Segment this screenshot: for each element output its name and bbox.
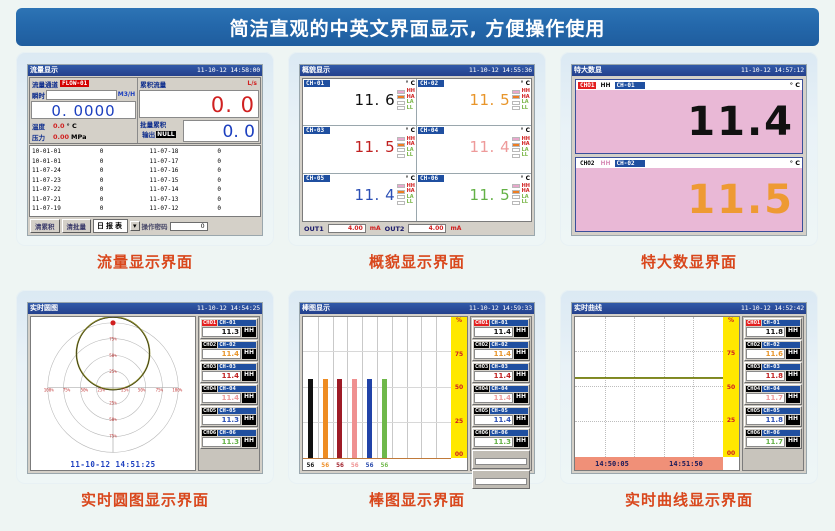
svg-text:100%: 100%	[44, 388, 54, 393]
overview-cell-body: 11. 6HHHALALL	[304, 87, 415, 113]
titlebar-title: 实时圆图	[30, 303, 58, 314]
channel-number: CHO6	[474, 430, 489, 436]
channel-item-ch-05[interactable]: CHO5CH-0511.4HH	[472, 406, 530, 427]
titlebar-timestamp: 11-10-12 14:57:12	[741, 65, 804, 76]
channel-item-ch-06[interactable]: CHO6CH-0611.3HH	[472, 428, 530, 449]
channel-value: 11.4	[202, 349, 241, 359]
caption-bar-chart: 棒图显示界面	[288, 489, 546, 510]
axis-tick-label: 25	[455, 418, 463, 425]
cell-date-left: 11-07-24	[32, 166, 100, 176]
bar-plot[interactable]: %75502500 565656565656	[302, 316, 468, 471]
table-row: 11-07-19 0 11-07-12 0	[32, 204, 258, 214]
channel-item-ch-03[interactable]: CHO3CH-0311.8HH	[744, 362, 802, 383]
bar-value-label: 56	[333, 461, 348, 469]
screen-bar-chart: 棒图显示 11-10-12 14:59:33 %75502500 5656565…	[299, 302, 535, 474]
trend-plot-area	[575, 317, 723, 457]
cell-date-right: 11-07-13	[150, 195, 218, 205]
channel-value: 11. 5	[469, 186, 510, 204]
channel-value: 11.4	[202, 371, 241, 381]
channel-item-ch-02[interactable]: CHO2CH-0211.4HH	[200, 340, 258, 361]
alarm-label-hh: HH	[514, 415, 528, 425]
channel-number: CHO2	[202, 342, 217, 348]
channel-item-ch-02[interactable]: CHO2CH-0211.6HH	[744, 340, 802, 361]
cell-date-right: 11-07-16	[150, 166, 218, 176]
alarm-box-icon	[512, 201, 520, 205]
channel-value: 11. 4	[469, 138, 510, 156]
overview-cell-body: 11. 5HHHALALL	[418, 87, 530, 113]
cell-value-left: 0	[100, 166, 150, 176]
alarm-label-hh: HH	[600, 160, 610, 167]
svg-text:75%: 75%	[63, 388, 71, 393]
flow-press-label: 压力	[30, 132, 45, 142]
table-row: 11-07-21 0 11-07-13 0	[32, 195, 258, 205]
overview-cell-header: CH-01° C	[304, 80, 415, 87]
channel-item-ch-04[interactable]: CHO4CH-0411.7HH	[744, 384, 802, 405]
titlebar-circle: 实时圆图 11-10-12 14:54:25	[28, 303, 262, 314]
svg-text:25%: 25%	[121, 388, 129, 393]
unit-label: ° C	[406, 127, 416, 134]
flow-history-table[interactable]: 10-01-01 0 11-07-18 0 10-01-01 0 11-07-1…	[29, 145, 261, 217]
channel-value: 11.3	[202, 327, 241, 337]
overview-cell-ch-06[interactable]: CH-06° C11. 5HHHALALL	[417, 174, 531, 221]
bar-value-label: 56	[377, 461, 392, 469]
channel-number: CHO2	[474, 342, 489, 348]
alarm-label: LL	[407, 153, 413, 158]
trend-channel-list: CHO1CH-0111.8HHCHO2CH-0211.6HHCHO3CH-031…	[742, 316, 804, 471]
bar-slot	[392, 317, 407, 458]
table-row: 11-07-23 0 11-07-15 0	[32, 176, 258, 186]
channel-value: 11.7	[746, 393, 785, 403]
cell-value-right: 0	[217, 204, 258, 214]
out1-value: 4.00	[328, 224, 366, 233]
channel-value: 11.4	[202, 393, 241, 403]
flow-channel-label: 流量通道	[30, 79, 58, 89]
unit-label: ° C	[521, 80, 531, 87]
alarm-box-icon	[512, 148, 520, 152]
caption-flow-display: 流量显示界面	[16, 251, 274, 272]
alarm-indicator-ll: LL	[512, 153, 530, 158]
channel-value: 11.7	[746, 437, 785, 447]
channel-chip: CHO2	[578, 160, 596, 167]
channel-item-body: 11.4HH	[202, 393, 256, 403]
bar-plot-area	[303, 317, 451, 458]
channel-item-body: 11.8HH	[746, 371, 800, 381]
table-row: 10-01-01 0 11-07-17 0	[32, 157, 258, 167]
channel-tag: CH-06	[218, 430, 256, 436]
trend-time-axis: 14:50:05 14:51:50	[575, 457, 723, 470]
bar-ch-02	[323, 379, 328, 458]
channel-item-ch-01[interactable]: CHO1CH-0111.8HH	[744, 318, 802, 339]
channel-item-ch-01[interactable]: CHO1CH-0111.4HH	[472, 318, 530, 339]
channel-value: 11.3	[474, 437, 513, 447]
cell-value-right: 0	[217, 157, 258, 167]
bar-value-labels: 565656565656	[303, 458, 451, 470]
bigdigit-body: CHO1HHCH-01° C11.4CHO2HHCH-02° C11.5	[572, 76, 806, 235]
titlebar-timestamp: 11-10-12 14:52:42	[741, 303, 804, 314]
unit-label: ° C	[406, 80, 416, 87]
password-input[interactable]: 0	[170, 222, 208, 231]
overview-cell-header: CH-05° C	[304, 175, 415, 182]
titlebar-bar: 棒图显示 11-10-12 14:59:33	[300, 303, 534, 314]
circle-plot[interactable]: 25% 50% 75% 25% 50% 75% 100% 25% 50% 75%…	[30, 316, 196, 471]
svg-text:25%: 25%	[109, 369, 117, 374]
channel-number: CHO3	[202, 364, 217, 370]
channel-item-body: 11.3HH	[202, 415, 256, 425]
axis-tick-label: 00	[455, 451, 463, 458]
alarm-label-hh: HH	[786, 393, 800, 403]
flow-temp-unit: ° C	[65, 122, 77, 130]
channel-tag: CH-03	[490, 364, 528, 370]
alarm-box-icon	[512, 143, 520, 147]
titlebar-trend: 实时曲线 11-10-12 14:52:42	[572, 303, 806, 314]
channel-number: CHO4	[202, 386, 217, 392]
channel-value: 11. 5	[469, 91, 510, 109]
channel-item-body: 11.4HH	[474, 327, 528, 337]
clear-batch-button[interactable]: 清批量	[62, 219, 92, 233]
overview-cell-body: 11. 4HHHALALL	[418, 134, 530, 160]
svg-text:100%: 100%	[172, 388, 182, 393]
titlebar-timestamp: 11-10-12 14:55:36	[469, 65, 532, 76]
channel-tag: CH-02	[615, 160, 645, 167]
flow-batch-value: 0. 0	[183, 120, 259, 142]
channel-item-header: CHO2CH-02	[474, 342, 528, 348]
flow-temp-row: 温度 0.0 ° C	[30, 120, 137, 131]
alarm-label-hh: HH	[600, 82, 610, 89]
unit-label: ° C	[521, 127, 531, 134]
circle-channel-list: CHO1CH-0111.3HHCHO2CH-0211.4HHCHO3CH-031…	[198, 316, 260, 471]
channel-tag: CH-03	[762, 364, 800, 370]
channel-tag: CH-02	[218, 342, 256, 348]
bigdigit-value-area: 11.5	[576, 168, 802, 231]
channel-item-ch-01[interactable]: CHO1CH-0111.3HH	[200, 318, 258, 339]
alarm-box-icon	[397, 148, 405, 152]
alarm-box-icon	[512, 184, 520, 188]
alarm-label: LL	[522, 153, 528, 158]
overview-cell-header: CH-02° C	[418, 80, 530, 87]
alarm-label-hh: HH	[242, 415, 256, 425]
overview-cell-ch-01[interactable]: CH-01° C11. 6HHHALALL	[303, 79, 417, 126]
alarm-box-icon	[512, 95, 520, 99]
overview-body: CH-01° C11. 6HHHALALLCH-02° C11. 5HHHALA…	[300, 76, 534, 235]
axis-tick-label: 50	[455, 384, 463, 391]
channel-number: CHO3	[474, 364, 489, 370]
flow-body: 流量通道 FLOW-01 瞬时 M3/H 0. 0000 温度 0.0 ° C …	[28, 76, 262, 235]
alarm-label-hh: HH	[786, 371, 800, 381]
channel-item-ch-04[interactable]: CHO4CH-0411.4HH	[200, 384, 258, 405]
alarm-group: HHHALALL	[512, 89, 530, 111]
channel-item-body: 11.3HH	[474, 437, 528, 447]
channel-item-body: 11.4HH	[474, 415, 528, 425]
cell-date-left: 11-07-19	[32, 204, 100, 214]
bar-ch-05	[367, 379, 372, 458]
bar-ch-04	[352, 379, 357, 458]
flow-instant-spacer	[46, 90, 117, 100]
overview-cell-ch-04[interactable]: CH-04° C11. 4HHHALALL	[417, 126, 531, 173]
titlebar-timestamp: 11-10-12 14:54:25	[197, 303, 260, 314]
flow-button-bar: 清累积 清批量 日报表 ▾ 操作密码 0	[29, 219, 261, 233]
channel-item-header: CHO3CH-03	[202, 364, 256, 370]
channel-number: CHO1	[474, 320, 489, 326]
axis-tick-label: 50	[727, 384, 735, 391]
alarm-indicator-ll: LL	[512, 200, 530, 205]
flow-output-label: 输出	[140, 129, 155, 139]
flow-press-unit: MPa	[69, 133, 86, 141]
flow-cumulative-header: 累积流量 L/s	[138, 78, 260, 89]
screen-trend-chart: 实时曲线 11-10-12 14:52:42 %75502500 14:50:0…	[571, 302, 807, 474]
channel-item-header: CHO3CH-03	[474, 364, 528, 370]
titlebar-title: 棒图显示	[302, 303, 330, 314]
trend-plot[interactable]: %75502500 14:50:05 14:51:50	[574, 316, 740, 471]
overview-cell-body: 11. 4HHHALALL	[304, 182, 415, 208]
channel-item-body: 11.6HH	[746, 349, 800, 359]
cell-date-right: 11-07-12	[150, 204, 218, 214]
axis-tick-label: 75	[455, 351, 463, 358]
bar-value-label: 56	[347, 461, 362, 469]
svg-text:75%: 75%	[109, 337, 117, 342]
clear-total-button[interactable]: 清累积	[30, 219, 60, 233]
out2-value: 4.00	[408, 224, 446, 233]
bar-channel-list: CHO1CH-0111.4HHCHO2CH-0211.4HHCHO3CH-031…	[470, 316, 532, 471]
report-select[interactable]: 日报表	[93, 219, 128, 233]
channel-number: CHO5	[746, 408, 761, 414]
screen-bigdigit-display: 特大数显 11-10-12 14:57:12 CHO1HHCH-01° C11.…	[571, 64, 807, 236]
bar-axis-scale: %75502500	[451, 317, 467, 458]
alarm-label-hh: HH	[242, 437, 256, 447]
cell-value-left: 0	[100, 185, 150, 195]
channel-tag: CH-06	[762, 430, 800, 436]
channel-item-ch-03[interactable]: CHO3CH-0311.4HH	[472, 362, 530, 383]
alarm-label: LL	[522, 106, 528, 111]
alarm-indicator-ll: LL	[397, 200, 415, 205]
overview-cell-ch-02[interactable]: CH-02° C11. 5HHHALALL	[417, 79, 531, 126]
channel-item-header: CHO1CH-01	[202, 320, 256, 326]
alarm-label-hh: HH	[514, 393, 528, 403]
channel-value: 11. 6	[354, 91, 395, 109]
channel-tag: CH-01	[304, 80, 330, 87]
cell-value-right: 0	[217, 176, 258, 186]
table-row: 11-07-24 0 11-07-16 0	[32, 166, 258, 176]
channel-item-body: 11.8HH	[746, 327, 800, 337]
channel-item-ch-03[interactable]: CHO3CH-0311.4HH	[200, 362, 258, 383]
cell-value-left: 0	[100, 147, 150, 157]
channel-number: CHO4	[474, 386, 489, 392]
trend-axis-scale: %75502500	[723, 317, 739, 457]
channel-number: CHO5	[474, 408, 489, 414]
channel-value: 11.8	[746, 327, 785, 337]
overview-cell-body: 11. 5HHHALALL	[304, 134, 415, 160]
flow-top-section: 流量通道 FLOW-01 瞬时 M3/H 0. 0000 温度 0.0 ° C …	[29, 77, 261, 144]
alarm-group: HHHALALL	[397, 89, 415, 111]
alarm-label-hh: HH	[786, 415, 800, 425]
bar-slot	[333, 317, 348, 458]
channel-item-ch-04[interactable]: CHO4CH-0411.4HH	[472, 384, 530, 405]
channel-item-body: 11.7HH	[746, 393, 800, 403]
unit-label: ° C	[521, 175, 531, 182]
alarm-box-icon	[512, 101, 520, 105]
alarm-label: LL	[522, 200, 528, 205]
flow-cumulative-value: 0. 0	[139, 90, 259, 118]
axis-tick-label: 25	[727, 417, 735, 424]
screen-overview-display: 概貌显示 11-10-12 14:55:36 CH-01° C11. 6HHHA…	[299, 64, 535, 236]
channel-item-ch-05[interactable]: CHO5CH-0511.8HH	[744, 406, 802, 427]
channel-tag: CH-02	[762, 342, 800, 348]
unit-label: ° C	[790, 159, 800, 167]
channel-item-ch-05[interactable]: CHO5CH-0511.3HH	[200, 406, 258, 427]
bigdigit-block-ch-02[interactable]: CHO2HHCH-02° C11.5	[575, 157, 803, 232]
axis-tick-label: 00	[727, 450, 735, 457]
flow-temp-label: 温度	[30, 121, 45, 131]
flow-batch-row: 批量累积 输出 NULL 0. 0	[138, 119, 260, 143]
alarm-box-icon	[397, 101, 405, 105]
circle-footer-timestamp: 11-10-12 14:51:25	[31, 460, 195, 469]
channel-item-header: CHO4CH-04	[746, 386, 800, 392]
bigdigit-value: 11.4	[687, 102, 794, 142]
alarm-label-hh: HH	[786, 437, 800, 447]
flow-output-value: NULL	[156, 131, 176, 138]
page-banner: 简洁直观的中英文界面显示, 方便操作使用	[16, 8, 819, 46]
titlebar-title: 流量显示	[30, 65, 58, 76]
alarm-label-hh: HH	[242, 371, 256, 381]
alarm-box-icon	[397, 195, 405, 199]
overview-cell-body: 11. 5HHHALALL	[418, 182, 530, 208]
channel-tag: CH-01	[615, 82, 645, 89]
trend-time-start: 14:50:05	[575, 460, 649, 468]
cell-date-right: 11-07-18	[150, 147, 218, 157]
flow-channel-row[interactable]: 流量通道 FLOW-01	[30, 78, 137, 89]
chevron-down-icon[interactable]: ▾	[130, 221, 140, 231]
channel-item-header: CHO1CH-01	[474, 320, 528, 326]
channel-number: CHO6	[746, 430, 761, 436]
channel-tag: CH-05	[490, 408, 528, 414]
flow-instant-label: 瞬时	[30, 90, 45, 100]
channel-item-header: CHO5CH-05	[474, 408, 528, 414]
cell-date-right: 11-07-17	[150, 157, 218, 167]
alarm-label-hh: HH	[786, 327, 800, 337]
svg-text:50%: 50%	[81, 388, 89, 393]
unit-label: ° C	[406, 175, 416, 182]
channel-item-body: 11.3HH	[202, 437, 256, 447]
bar-slot	[421, 317, 436, 458]
channel-value: 11.3	[202, 415, 241, 425]
bar-series	[303, 317, 451, 458]
alarm-group: HHHALALL	[512, 184, 530, 206]
channel-item-body: 11.3HH	[202, 327, 256, 337]
alarm-box-icon	[512, 195, 520, 199]
alarm-box-icon	[512, 106, 520, 110]
flow-right-column: 累积流量 L/s 0. 0 批量累积 输出 NULL 0. 0	[138, 78, 260, 143]
channel-tag: CH-04	[762, 386, 800, 392]
alarm-box-icon	[397, 137, 405, 141]
channel-tag: CH-04	[218, 386, 256, 392]
table-row: 11-07-22 0 11-07-14 0	[32, 185, 258, 195]
channel-item-header: CHO6CH-06	[202, 430, 256, 436]
alarm-box-icon	[512, 90, 520, 94]
channel-item-header: CHO3CH-03	[746, 364, 800, 370]
cell-value-right: 0	[217, 185, 258, 195]
overview-cell-header: CH-03° C	[304, 127, 415, 134]
alarm-box-icon	[512, 137, 520, 141]
channel-tag: CH-01	[762, 320, 800, 326]
bar-slot	[347, 317, 362, 458]
channel-item-empty	[472, 470, 530, 489]
bar-slot	[436, 317, 451, 458]
titlebar-flow: 流量显示 11-10-12 14:58:00	[28, 65, 262, 76]
bigdigit-block-ch-01[interactable]: CHO1HHCH-01° C11.4	[575, 79, 803, 154]
channel-tag: CH-06	[490, 430, 528, 436]
channel-item-header: CHO5CH-05	[202, 408, 256, 414]
flow-press-value: 0.00	[53, 133, 69, 141]
channel-value: 11.6	[746, 349, 785, 359]
flow-cumulative-unit: L/s	[247, 80, 260, 87]
out2-unit: mA	[450, 225, 461, 232]
svg-text:50%: 50%	[138, 388, 146, 393]
empty-field	[475, 478, 527, 485]
channel-item-header: CHO2CH-02	[202, 342, 256, 348]
alarm-box-icon	[512, 154, 520, 158]
bigdigit-header: CHO2HHCH-02° C	[576, 158, 802, 168]
caption-circle-chart: 实时圆图显示界面	[16, 489, 274, 510]
alarm-label-hh: HH	[514, 371, 528, 381]
channel-item-body: 11.4HH	[474, 349, 528, 359]
titlebar-bigdigit: 特大数显 11-10-12 14:57:12	[572, 65, 806, 76]
bar-slot	[318, 317, 333, 458]
alarm-indicator-ll: LL	[397, 153, 415, 158]
bar-body: %75502500 565656565656 CHO1CH-0111.4HHCH…	[300, 314, 534, 473]
axis-tick-label: %	[728, 317, 734, 324]
bar-slot	[407, 317, 422, 458]
channel-item-body: 11.4HH	[202, 349, 256, 359]
cell-date-right: 11-07-14	[150, 185, 218, 195]
channel-value: 11.4	[474, 349, 513, 359]
alarm-box-icon	[397, 143, 405, 147]
channel-item-body: 11.4HH	[474, 393, 528, 403]
alarm-label-hh: HH	[514, 349, 528, 359]
titlebar-timestamp: 11-10-12 14:59:33	[469, 303, 532, 314]
channel-value: 11.4	[474, 415, 513, 425]
channel-item-ch-06[interactable]: CHO6CH-0611.3HH	[200, 428, 258, 449]
alarm-group: HHHALALL	[397, 137, 415, 159]
titlebar-title: 概貌显示	[302, 65, 330, 76]
alarm-label-hh: HH	[514, 437, 528, 447]
flow-batch-label: 批量累积	[138, 119, 182, 129]
channel-item-ch-02[interactable]: CHO2CH-0211.4HH	[472, 340, 530, 361]
channel-number: CHO4	[746, 386, 761, 392]
flow-instant-row: 瞬时 M3/H	[30, 89, 137, 100]
channel-value: 11.8	[746, 415, 785, 425]
svg-text:50%: 50%	[109, 353, 117, 358]
bar-slot	[362, 317, 377, 458]
overview-cell-ch-03[interactable]: CH-03° C11. 5HHHALALL	[303, 126, 417, 173]
out1-unit: mA	[370, 225, 381, 232]
alarm-box-icon	[397, 184, 405, 188]
overview-outputs: OUT1 4.00 mA OUT2 4.00 mA	[302, 224, 532, 233]
channel-value: 11.8	[746, 371, 785, 381]
bar-value-label: 56	[318, 461, 333, 469]
channel-item-body: 11.4HH	[202, 371, 256, 381]
cell-value-right: 0	[217, 166, 258, 176]
cell-value-left: 0	[100, 176, 150, 186]
overview-cell-ch-05[interactable]: CH-05° C11. 4HHHALALL	[303, 174, 417, 221]
flow-instant-unit: M3/H	[118, 91, 137, 98]
overview-cell-header: CH-04° C	[418, 127, 530, 134]
svg-text:75%: 75%	[156, 388, 164, 393]
cell-date-left: 11-07-22	[32, 185, 100, 195]
channel-value: 11.3	[202, 437, 241, 447]
channel-item-ch-06[interactable]: CHO6CH-0611.7HH	[744, 428, 802, 449]
channel-tag: CH-02	[418, 80, 444, 87]
alarm-box-icon	[397, 106, 405, 110]
trend-series	[575, 317, 723, 457]
